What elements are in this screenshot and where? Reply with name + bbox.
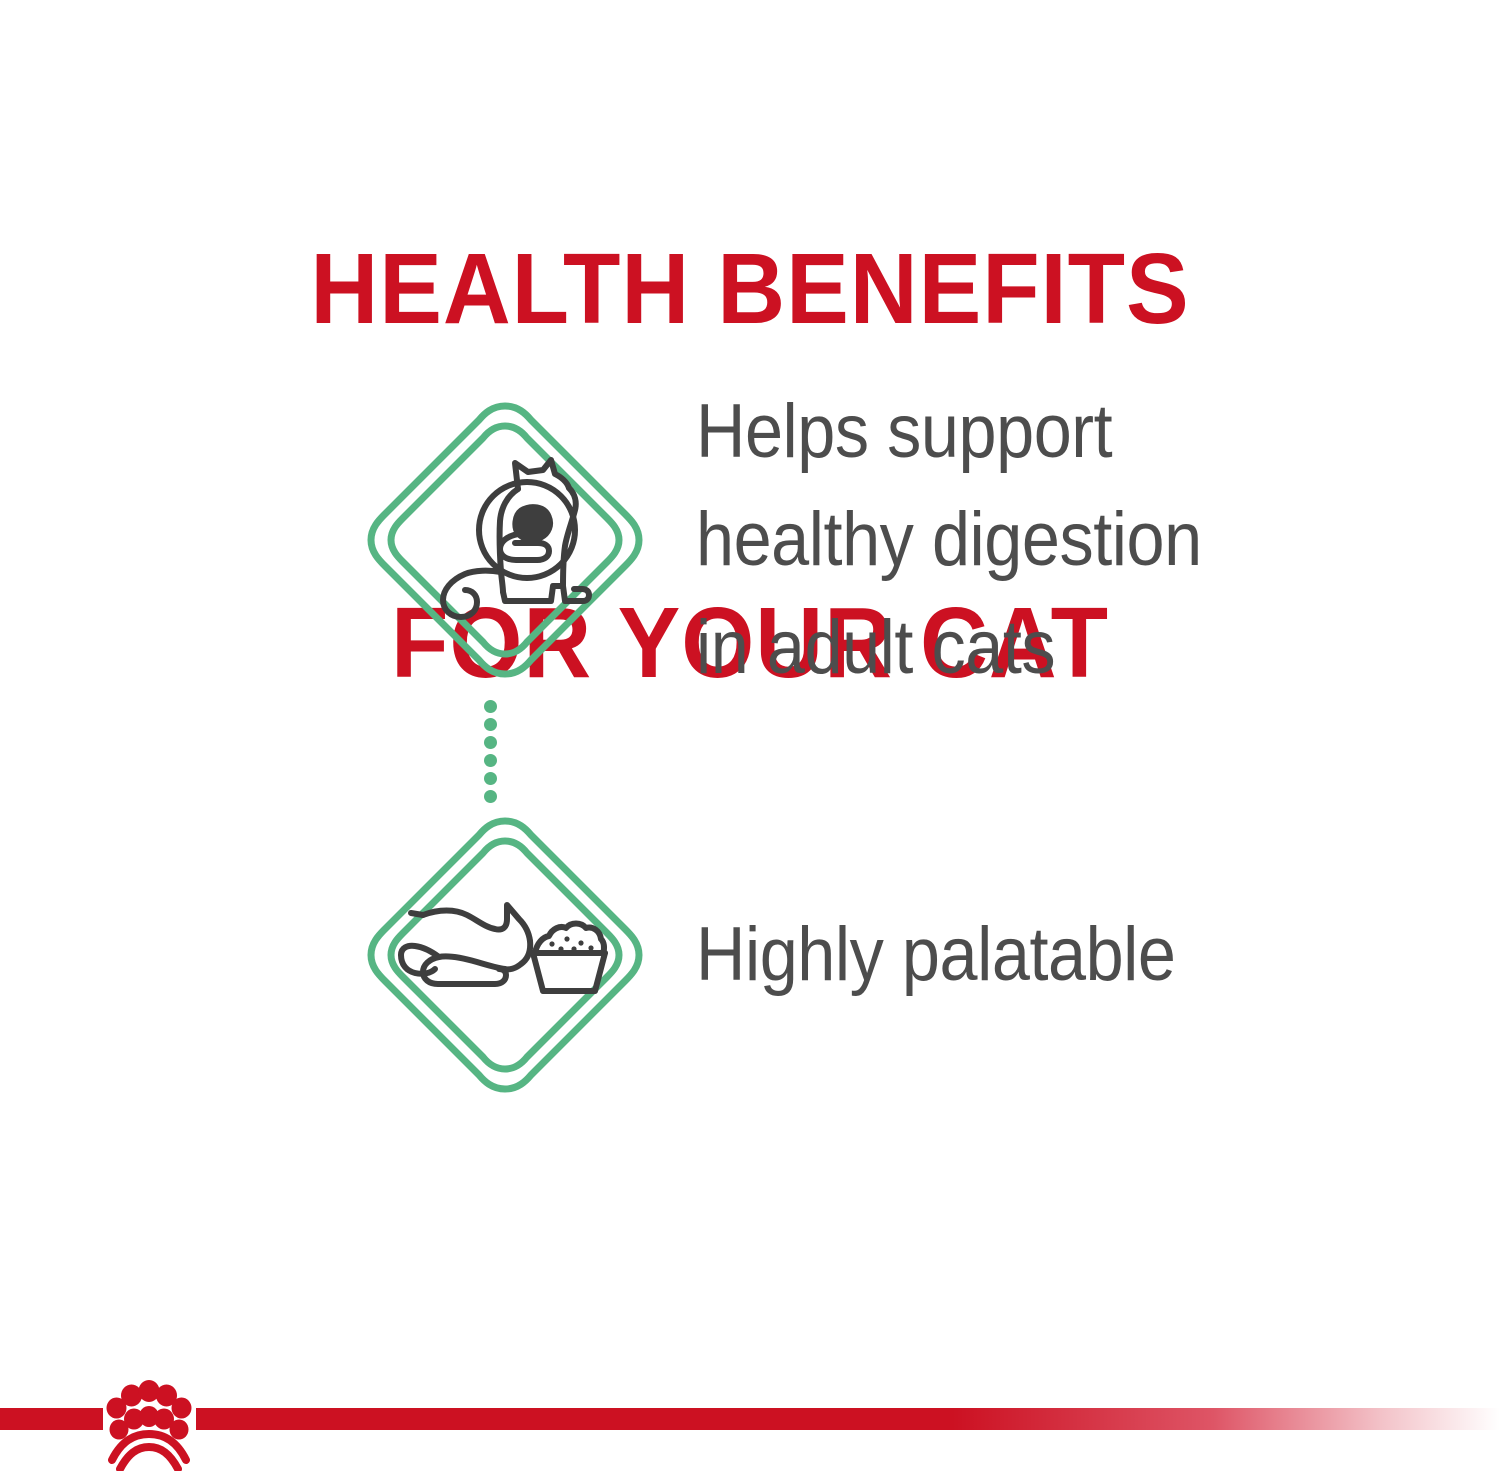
benefit-item-digestion: Helps support healthy digestion in adult… xyxy=(0,380,1500,700)
cat-eating-bowl-icon xyxy=(340,795,670,1115)
connector-dot xyxy=(484,736,497,749)
benefit-text-digestion: Helps support healthy digestion in adult… xyxy=(696,378,1202,702)
connector-dot xyxy=(484,718,497,731)
connector-dot xyxy=(484,772,497,785)
royal-canin-crown-logo xyxy=(99,1372,199,1471)
connector-dot xyxy=(484,790,497,803)
dotted-connector xyxy=(484,700,506,804)
footer-bar-left-segment xyxy=(0,1408,103,1430)
page-title-line-1: HEALTH BENEFITS xyxy=(45,230,1455,348)
benefit-item-palatable: Highly palatable xyxy=(0,795,1500,1115)
connector-dot xyxy=(484,700,497,713)
cat-digestion-icon xyxy=(340,380,670,700)
footer-bar-right-segment xyxy=(196,1408,1500,1430)
connector-dot xyxy=(484,754,497,767)
benefit-text-palatable: Highly palatable xyxy=(696,901,1176,1009)
footer-brand-bar xyxy=(0,1370,1500,1471)
